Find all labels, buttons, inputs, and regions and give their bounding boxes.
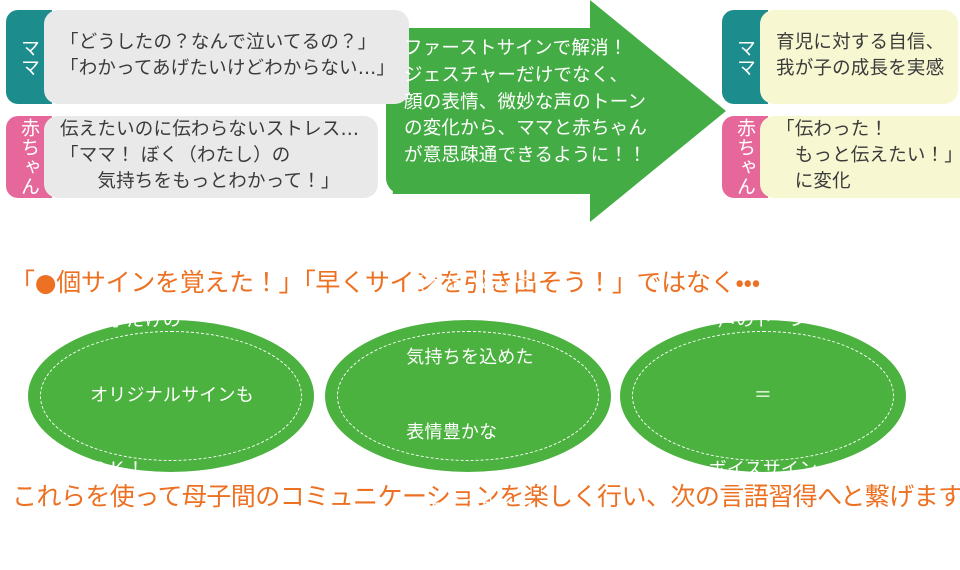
ellipse-2-line-1: 伝えたいという (406, 272, 533, 297)
ellipse-3-line-1: 声のトーン (709, 309, 818, 334)
concept-ellipse-voice-sign: 声のトーン ＝ ボイスサイン (620, 320, 906, 472)
speaker-tab-mama-before-label: ママ (18, 38, 40, 77)
bubble-mama-before-body: 「どうしたの？なんで泣いてるの？」 「わかってあげたいけどわからない…」 (44, 10, 409, 104)
ellipse-2-line-2: 気持ちを込めた (406, 346, 533, 371)
ellipse-2-line-3: 表情豊かな (406, 421, 533, 446)
bubble-baby-before: 赤ちゃん 伝えたいのに伝わらないストレス… 「ママ！ ぼく（わたし）の 気持ちを… (6, 116, 378, 198)
arrow-line-5: が意思疎通できるように！！ (404, 143, 634, 170)
ellipse-1-line-1: 親子だけの (90, 309, 254, 334)
concept-ellipse-face-sign: 伝えたいという 気持ちを込めた 表情豊かな フェイスサイン (325, 320, 611, 472)
bubble-mama-before-line-2: 「わかってあげたいけどわからない…」 (60, 56, 395, 82)
bubble-baby-before-line-1: 伝えたいのに伝わらないストレス… (60, 117, 364, 143)
arrow-line-4: の変化から、ママと赤ちゃん (404, 116, 634, 143)
speaker-tab-mama-after-label: ママ (734, 38, 756, 77)
speaker-tab-baby-after-label: 赤ちゃん (734, 118, 756, 196)
arrow-line-3: 顔の表情、微妙な声のトーン (404, 90, 634, 117)
concept-ellipse-1-text: 親子だけの オリジナルサインも ＯＫ！ (90, 259, 254, 532)
bubble-baby-before-line-3: 気持ちをもっとわかって！」 (60, 169, 364, 195)
arrow-line-2: ジェスチャーだけでなく、 (404, 63, 634, 90)
concept-ellipse-3-text: 声のトーン ＝ ボイスサイン (709, 259, 818, 532)
bubble-baby-before-line-2: 「ママ！ ぼく（わたし）の (60, 143, 364, 169)
concept-ellipse-2-text: 伝えたいという 気持ちを込めた 表情豊かな フェイスサイン (406, 222, 533, 570)
ellipse-3-line-2: ＝ (709, 384, 818, 409)
bubble-baby-after-line-2: もっと伝えたい！」 (776, 143, 960, 169)
concept-ellipse-original-sign: 親子だけの オリジナルサインも ＯＫ！ (28, 320, 314, 472)
ellipse-2-line-4: フェイスサイン (406, 495, 533, 520)
bubble-mama-before-line-1: 「どうしたの？なんで泣いてるの？」 (60, 30, 395, 56)
bubble-baby-after-line-3: に変化 (776, 169, 960, 195)
arrow-text-block: ファーストサインで解消！ ジェスチャーだけでなく、 顔の表情、微妙な声のトーン … (404, 36, 634, 170)
bubble-baby-after: 赤ちゃん 「伝わった！ もっと伝えたい！」 に変化 (722, 116, 954, 198)
transition-arrow: ファーストサインで解消！ ジェスチャーだけでなく、 顔の表情、微妙な声のトーン … (386, 0, 726, 222)
ellipse-3-line-3: ボイスサイン (709, 458, 818, 483)
arrow-line-1: ファーストサインで解消！ (404, 36, 634, 63)
bubble-mama-after-body: 育児に対する自信、 我が子の成長を実感 (760, 10, 958, 104)
ellipse-1-line-2: オリジナルサインも (90, 384, 254, 409)
bubble-baby-after-body: 「伝わった！ もっと伝えたい！」 に変化 (760, 116, 960, 198)
bubble-mama-before: ママ 「どうしたの？なんで泣いてるの？」 「わかってあげたいけどわからない…」 (6, 10, 378, 104)
bubble-mama-after-line-1: 育児に対する自信、 (776, 30, 944, 56)
ellipse-1-line-3: ＯＫ！ (90, 458, 254, 483)
bubble-baby-after-line-1: 「伝わった！ (776, 117, 960, 143)
speaker-tab-baby-before-label: 赤ちゃん (18, 118, 40, 196)
bubble-baby-before-body: 伝えたいのに伝わらないストレス… 「ママ！ ぼく（わたし）の 気持ちをもっとわか… (44, 116, 378, 198)
bubble-mama-after: ママ 育児に対する自信、 我が子の成長を実感 (722, 10, 954, 104)
bubble-mama-after-line-2: 我が子の成長を実感 (776, 56, 944, 82)
